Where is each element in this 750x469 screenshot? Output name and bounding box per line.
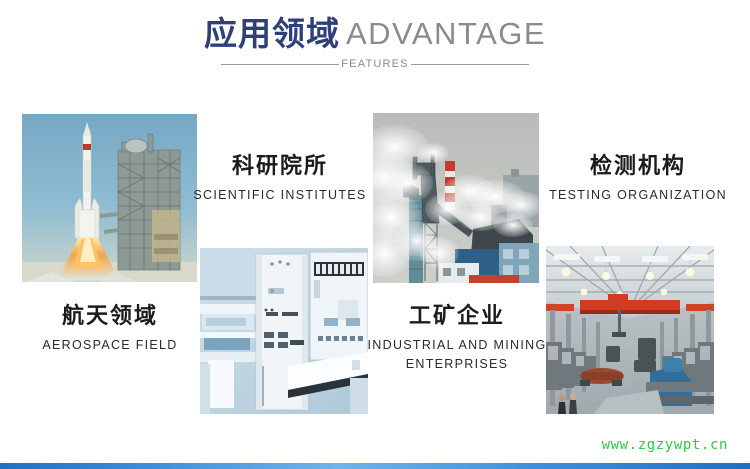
divider-line-left: [221, 64, 339, 65]
label-industrial-english-line2: ENTERPRISES: [362, 355, 552, 374]
label-aerospace-chinese: 航天领域: [10, 302, 210, 332]
label-industrial-mining: 工矿企业 INDUSTRIAL AND MINING ENTERPRISES: [362, 302, 552, 374]
laboratory-equipment-illustration: [200, 248, 368, 414]
factory-workshop-photo: [546, 246, 714, 414]
label-testing-chinese: 检测机构: [540, 152, 736, 182]
rocket-launch-photo: [22, 114, 197, 282]
label-institutes-english: SCIENTIFIC INSTITUTES: [190, 186, 370, 205]
page-title: 应用领域ADVANTAGE: [0, 12, 750, 56]
subtitle-divider: FEATURES: [0, 58, 750, 70]
page-title-english: ADVANTAGE: [346, 16, 546, 51]
bottom-accent-bar: [0, 463, 750, 469]
factory-workshop-illustration: [546, 246, 714, 414]
industrial-smokestacks-illustration: [373, 113, 539, 283]
label-testing-english: TESTING ORGANIZATION: [540, 186, 736, 205]
label-testing-organization: 检测机构 TESTING ORGANIZATION: [540, 152, 736, 205]
label-institutes-chinese: 科研院所: [190, 152, 370, 182]
rocket-launch-illustration: [22, 114, 197, 282]
label-industrial-chinese: 工矿企业: [362, 302, 552, 332]
laboratory-equipment-photo: [200, 248, 368, 414]
label-scientific-institutes: 科研院所 SCIENTIFIC INSTITUTES: [190, 152, 370, 205]
website-watermark: www.zgzywpt.cn: [602, 437, 728, 453]
label-aerospace-field: 航天领域 AEROSPACE FIELD: [10, 302, 210, 355]
banner-header: 应用领域ADVANTAGE FEATURES: [0, 0, 750, 92]
industrial-smokestacks-photo: [373, 113, 539, 283]
subtitle-label: FEATURES: [339, 58, 410, 70]
label-industrial-english-line1: INDUSTRIAL AND MINING: [362, 336, 552, 355]
divider-line-right: [411, 64, 529, 65]
page-title-chinese: 应用领域: [204, 14, 340, 53]
advantage-banner: 应用领域ADVANTAGE FEATURES: [0, 0, 750, 469]
label-aerospace-english: AEROSPACE FIELD: [10, 336, 210, 355]
